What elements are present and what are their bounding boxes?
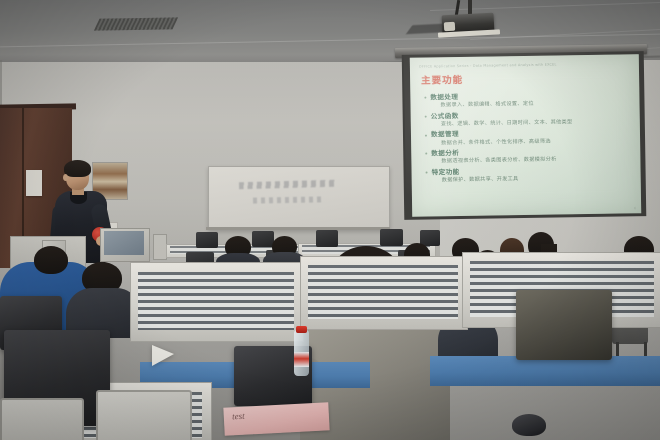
monitor (380, 229, 403, 246)
monitor (0, 398, 84, 440)
classroom-photo: OFFICE Application Series - Data Managem… (0, 0, 660, 440)
slide-section: 数据分析 数据透视表分析、各类图表分析、数据模拟分析 (424, 146, 634, 166)
foreground-person-head (34, 246, 68, 274)
slide-title: 主要功能 (421, 69, 633, 86)
whiteboard-writing (239, 180, 335, 190)
presentation-slide: OFFICE Application Series - Data Managem… (410, 54, 641, 217)
bottle-cap (296, 326, 307, 333)
paper-sheet (152, 345, 174, 366)
projector-lens (444, 22, 455, 32)
slide-section: 特定功能 数据保护、数据共享、开发工具 (425, 165, 635, 185)
front-monitor-side (153, 234, 167, 260)
presenter-hair (64, 160, 91, 177)
monitor (196, 232, 218, 248)
posted-paper (26, 170, 42, 196)
slide-section: 数据处理 数据录入、数据编辑、格式设置、定位 (423, 90, 633, 110)
slide-section: 数据管理 数据合并、条件格式、个性化排序、高级筛选 (424, 128, 634, 148)
slide-page-number: 6 (634, 206, 636, 210)
computer-mouse[interactable] (512, 414, 546, 436)
whiteboard-marker-tray (206, 227, 390, 230)
ceiling-vent (94, 17, 178, 30)
divider-glass (138, 272, 294, 330)
projection-screen: OFFICE Application Series - Data Managem… (410, 54, 641, 217)
slide-header: OFFICE Application Series - Data Managem… (419, 61, 633, 68)
divider-glass (308, 265, 458, 319)
lab-desk (430, 356, 660, 386)
monitor (96, 390, 192, 440)
monitor (516, 290, 612, 360)
whiteboard-writing (253, 196, 323, 203)
slide-section: 公式函数 查找、逻辑、数学、统计、日期时间、文本、其他类型 (424, 109, 634, 129)
presenter-ear (63, 174, 68, 181)
monitor (316, 230, 338, 247)
slide-body: 数据处理 数据录入、数据编辑、格式设置、定位 公式函数 查找、逻辑、数学、统计、… (423, 90, 634, 185)
whiteboard (208, 166, 390, 230)
front-monitor-screen (104, 231, 144, 255)
monitor (252, 231, 274, 247)
bottle-label (294, 352, 309, 367)
